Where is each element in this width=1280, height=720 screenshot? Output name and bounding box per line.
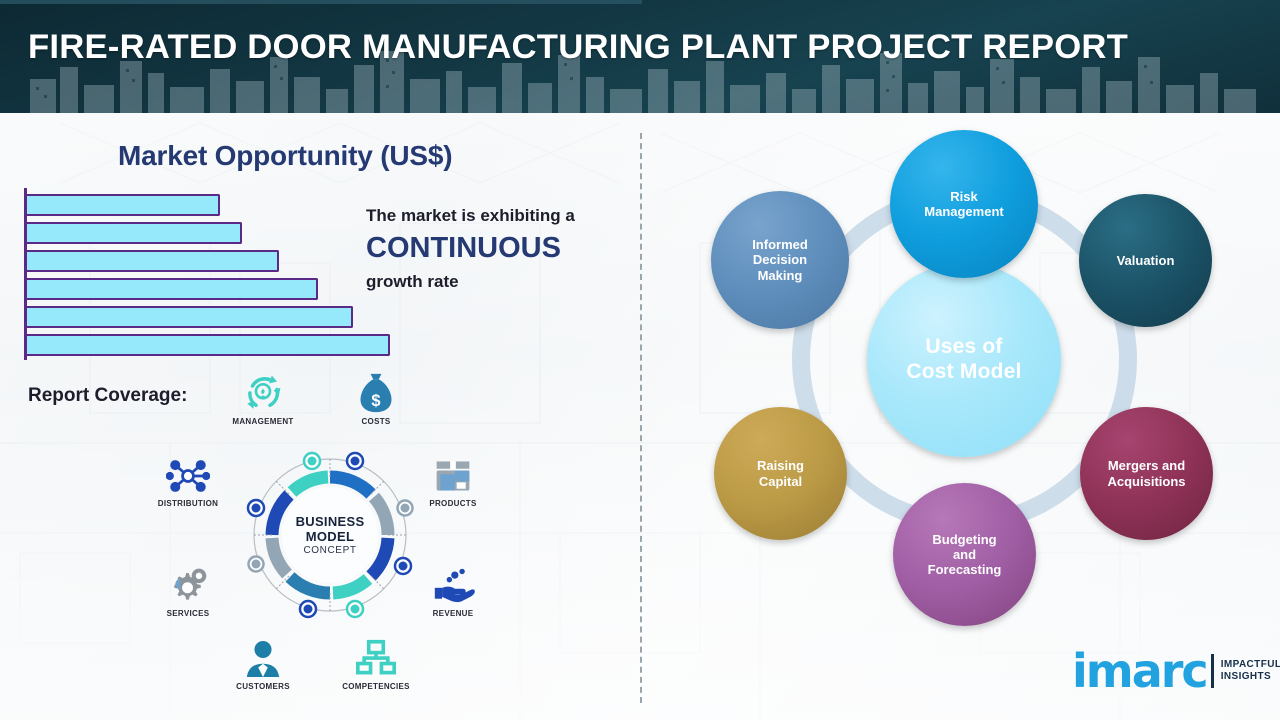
money-bag-icon: $	[328, 368, 424, 414]
raising-line-1: Raising	[751, 458, 810, 473]
blurb-highlight: CONTINUOUS	[366, 230, 636, 268]
node-mergers-acquisitions[interactable]: Mergers and Acquisitions	[1080, 407, 1213, 540]
risk-line-2: Management	[918, 204, 1009, 219]
bar-3	[27, 250, 279, 272]
logo-divider	[1211, 654, 1214, 688]
coverage-item-services: SERVICES	[140, 560, 236, 618]
coverage-label-services: SERVICES	[140, 609, 236, 618]
node-center-uses-of-cost-model: Uses of Cost Model	[867, 263, 1061, 457]
product-box-icon	[405, 450, 501, 496]
slide-root: FIRE-RATED DOOR MANUFACTURING PLANT PROJ…	[0, 0, 1280, 720]
node-informed-decision-making[interactable]: Informed Decision Making	[711, 191, 849, 329]
bar-6	[27, 334, 390, 356]
imarc-logo: imarc IMPACTFUL INSIGHTS	[1072, 648, 1280, 694]
network-nodes-icon	[140, 450, 236, 496]
hand-coins-icon	[405, 560, 501, 606]
market-blurb: The market is exhibiting a CONTINUOUS gr…	[366, 205, 636, 292]
coverage-label-competencies: COMPETENCIES	[328, 682, 424, 691]
valuation-line-1: Valuation	[1111, 253, 1181, 268]
node-budgeting-forecasting[interactable]: Budgeting and Forecasting	[893, 483, 1036, 626]
node-raising-capital[interactable]: Raising Capital	[714, 407, 847, 540]
logo-wordmark: imarc	[1072, 648, 1207, 694]
svg-text:$: $	[371, 392, 380, 410]
coverage-label-distribution: DISTRIBUTION	[140, 499, 236, 508]
uses-of-cost-model-diagram: Uses of Cost Model Risk Management Valua…	[640, 113, 1280, 720]
bar-2	[27, 222, 242, 244]
page-title: FIRE-RATED DOOR MANUFACTURING PLANT PROJ…	[28, 28, 1128, 67]
gears-icon	[140, 560, 236, 606]
mergers-line-1: Mergers and	[1101, 458, 1191, 473]
blurb-line-3: growth rate	[366, 272, 636, 292]
coverage-item-revenue: REVENUE	[405, 560, 501, 618]
bar-1	[27, 194, 220, 216]
header-top-strip	[0, 0, 642, 4]
node-valuation[interactable]: Valuation	[1079, 194, 1212, 327]
logo-tagline-line1: IMPACTFUL	[1221, 659, 1280, 671]
informed-line-1: Informed	[746, 237, 814, 252]
logo-tagline-line2: INSIGHTS	[1221, 671, 1280, 683]
budget-line-3: Forecasting	[922, 562, 1008, 577]
bar-5	[27, 306, 353, 328]
market-opportunity-bar-chart	[24, 188, 404, 363]
coverage-item-costs: $ COSTS	[328, 368, 424, 426]
person-icon	[215, 633, 311, 679]
center-line-2: Cost Model	[900, 360, 1027, 385]
coverage-item-competencies: COMPETENCIES	[328, 633, 424, 691]
coverage-label-costs: COSTS	[328, 417, 424, 426]
coverage-item-products: PRODUCTS	[405, 450, 501, 508]
budget-line-2: and	[922, 547, 1008, 562]
budget-line-1: Budgeting	[922, 532, 1008, 547]
bar-4	[27, 278, 318, 300]
coverage-item-management: MANAGEMENT	[215, 368, 311, 426]
business-model-diagram: MANAGEMENT $ COSTS	[140, 368, 520, 708]
center-line-1: Uses of	[900, 335, 1027, 360]
coverage-label-management: MANAGEMENT	[215, 417, 311, 426]
slide-header: FIRE-RATED DOOR MANUFACTURING PLANT PROJ…	[0, 0, 1280, 113]
coverage-item-distribution: DISTRIBUTION	[140, 450, 236, 508]
logo-tagline: IMPACTFUL INSIGHTS	[1221, 659, 1280, 683]
blurb-line-1: The market is exhibiting a	[366, 205, 636, 226]
org-chart-icon	[328, 633, 424, 679]
business-model-wheel: BUSINESS MODEL CONCEPT	[245, 450, 415, 620]
recycle-lightbulb-icon	[215, 368, 311, 414]
mergers-line-2: Acquisitions	[1101, 474, 1191, 489]
node-risk-management[interactable]: Risk Management	[890, 130, 1038, 278]
coverage-label-revenue: REVENUE	[405, 609, 501, 618]
informed-line-3: Making	[746, 268, 814, 283]
raising-line-2: Capital	[751, 474, 810, 489]
coverage-label-products: PRODUCTS	[405, 499, 501, 508]
market-opportunity-title: Market Opportunity (US$)	[118, 140, 452, 172]
coverage-label-customers: CUSTOMERS	[215, 682, 311, 691]
informed-line-2: Decision	[746, 252, 814, 267]
coverage-item-customers: CUSTOMERS	[215, 633, 311, 691]
risk-line-1: Risk	[918, 189, 1009, 204]
